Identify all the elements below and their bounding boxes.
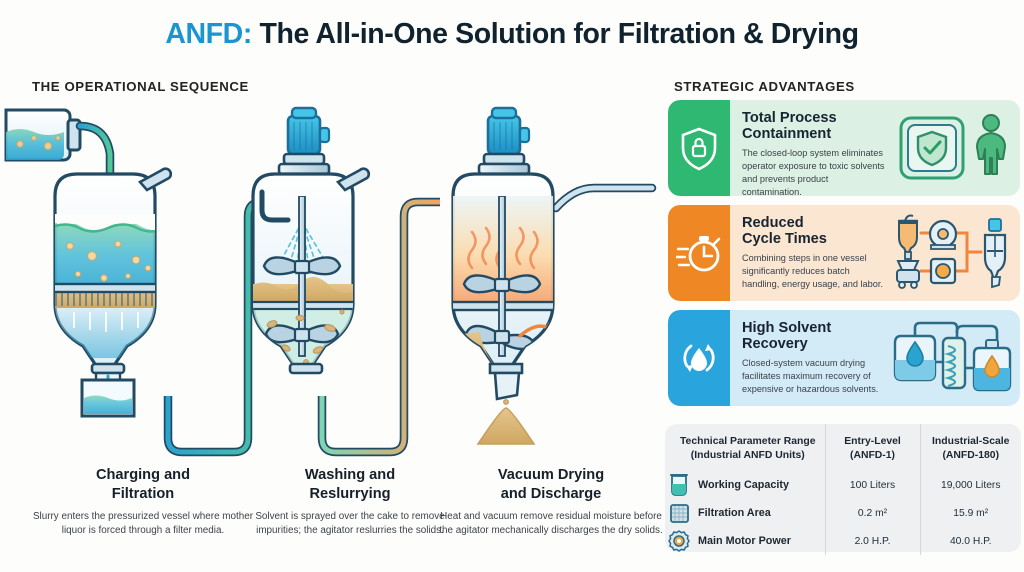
process-diagram	[0, 96, 665, 476]
row-label: Working Capacity	[698, 479, 789, 491]
vessel-charging-filtration	[50, 169, 171, 416]
advantage-heading-line1: Reduced	[742, 215, 804, 231]
step-description: Slurry enters the pressurized vessel whe…	[24, 510, 262, 538]
advantage-text: High SolventRecovery Closed-system vacuu…	[730, 310, 892, 406]
gear-icon	[667, 530, 691, 552]
header-parameter-line2: (Industrial ANFD Units)	[691, 450, 805, 461]
header-entry-level: Entry-Level (ANFD-1)	[825, 424, 920, 471]
agitator-blade-upper	[264, 257, 340, 274]
advantage-heading-line1: High Solvent	[742, 320, 831, 336]
beaker-icon	[667, 473, 691, 497]
advantage-card-reduced-cycle-times[interactable]: ReducedCycle Times Combining steps in on…	[668, 205, 1020, 301]
advantage-card-high-solvent-recovery[interactable]: High SolventRecovery Closed-system vacuu…	[668, 310, 1020, 406]
agitator-blade-upper	[464, 275, 540, 292]
step-caption-3: Vacuum Dryingand Discharge Heat and vacu…	[437, 466, 665, 538]
step-title-line1: Washing and	[305, 467, 395, 483]
infographic-page: ANFD: The All-in-One Solution for Filtra…	[0, 0, 1024, 572]
step-title-line2: Filtration	[112, 486, 174, 502]
containment-illustration	[892, 100, 1020, 196]
advantage-heading-line2: Cycle Times	[742, 231, 827, 247]
vessel-washing-reslurrying	[248, 108, 369, 373]
row-industrial-value: 19,000 Liters	[920, 471, 1021, 499]
advantage-text: Total ProcessContainment The closed-loop…	[730, 100, 892, 196]
advantage-heading-line2: Recovery	[742, 336, 808, 352]
title-accent: ANFD:	[165, 18, 252, 50]
step-title-line1: Charging and	[96, 467, 190, 483]
row-entry-value: 100 Liters	[825, 471, 920, 499]
header-industrial-line1: Industrial-Scale	[932, 436, 1009, 447]
title-rest: The All-in-One Solution for Filtration &…	[252, 18, 859, 50]
section-header-operational-sequence: THE OPERATIONAL SEQUENCE	[32, 79, 249, 94]
section-header-strategic-advantages: STRATEGIC ADVANTAGES	[674, 79, 855, 94]
step-caption-1: Charging andFiltration Slurry enters the…	[24, 466, 262, 538]
shield-lock-icon	[668, 100, 730, 196]
step-description: Solvent is sprayed over the cake to remo…	[243, 510, 457, 538]
row-industrial-value: 15.9 m²	[920, 499, 1021, 527]
mesh-square-icon	[667, 503, 691, 524]
cycle-equipment-illustration	[892, 205, 1020, 301]
step-description: Heat and vacuum remove residual moisture…	[437, 510, 665, 538]
header-industrial-line2: (ANFD-180)	[942, 450, 999, 461]
row-entry-value: 0.2 m²	[825, 499, 920, 527]
droplet-recycle-icon	[668, 310, 730, 406]
advantage-heading-line2: Containment	[742, 126, 831, 142]
table-row: Filtration Area 0.2 m² 15.9 m²	[665, 499, 1021, 527]
step-caption-2: Washing andReslurrying Solvent is spraye…	[243, 466, 457, 538]
row-entry-value: 2.0 H.P.	[825, 527, 920, 555]
row-label: Main Motor Power	[698, 535, 791, 547]
vessel-vacuum-drying-discharge	[448, 108, 563, 444]
stopwatch-icon	[668, 205, 730, 301]
technical-parameter-table: Technical Parameter Range (Industrial AN…	[665, 424, 1021, 552]
header-entry-line1: Entry-Level	[844, 436, 901, 447]
page-title: ANFD: The All-in-One Solution for Filtra…	[0, 18, 1024, 51]
table-header-row: Technical Parameter Range (Industrial AN…	[665, 424, 1021, 471]
slurry-inlet-bottle	[6, 110, 80, 160]
row-label: Filtration Area	[698, 507, 771, 519]
header-entry-line2: (ANFD-1)	[850, 450, 895, 461]
table-row: Working Capacity 100 Liters 19,000 Liter…	[665, 471, 1021, 499]
advantage-body: Combining steps in one vessel significan…	[742, 252, 888, 291]
row-industrial-value: 40.0 H.P.	[920, 527, 1021, 555]
header-parameter: Technical Parameter Range (Industrial AN…	[665, 424, 825, 471]
advantage-card-total-process-containment[interactable]: Total ProcessContainment The closed-loop…	[668, 100, 1020, 196]
header-industrial-scale: Industrial-Scale (ANFD-180)	[920, 424, 1021, 471]
step-title-line2: Reslurrying	[309, 486, 390, 502]
advantage-text: ReducedCycle Times Combining steps in on…	[730, 205, 892, 301]
table-row: Main Motor Power 2.0 H.P. 40.0 H.P.	[665, 527, 1021, 555]
advantage-heading-line1: Total Process	[742, 110, 837, 126]
step-title-line2: and Discharge	[501, 486, 602, 502]
header-parameter-line1: Technical Parameter Range	[680, 436, 816, 447]
advantage-body: Closed-system vacuum drying facilitates …	[742, 357, 888, 396]
step-title-line1: Vacuum Drying	[498, 467, 604, 483]
advantage-body: The closed-loop system eliminates operat…	[742, 147, 888, 196]
solvent-recovery-illustration	[892, 310, 1020, 406]
